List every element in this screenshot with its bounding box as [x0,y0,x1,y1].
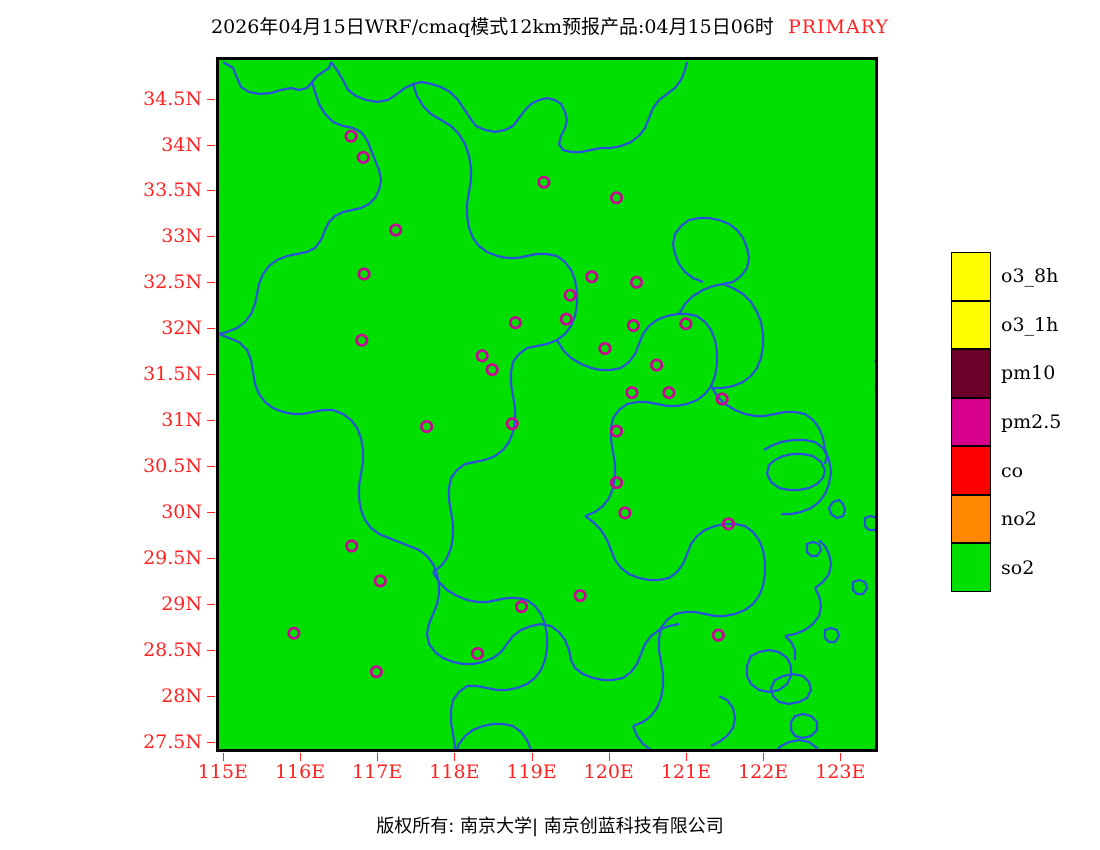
legend-item[interactable]: o3_8h [951,252,991,301]
boundary-line [219,334,679,680]
boundary-line [455,724,533,749]
y-axis-label: 29.5N [0,547,202,569]
y-axis-label: 29N [0,593,202,615]
station-marker[interactable] [611,426,621,436]
x-axis-label: 115E [198,761,248,783]
station-marker[interactable] [565,290,575,300]
y-axis-label: 28N [0,685,202,707]
station-marker[interactable] [346,131,356,141]
x-axis-tick [686,753,687,761]
x-axis-label: 121E [661,761,711,783]
station-marker[interactable] [620,508,630,518]
province-boundaries [219,62,875,749]
boundary-line [807,542,821,556]
y-axis-label: 30N [0,501,202,523]
station-marker[interactable] [510,318,520,328]
legend-item[interactable]: o3_1h [951,301,991,350]
station-marker[interactable] [713,630,723,640]
legend-color-swatch [951,543,991,592]
station-marker[interactable] [477,351,487,361]
boundary-line [781,450,831,514]
x-axis-tick [454,753,455,761]
page-title: 2026年04月15日WRF/cmaq模式12km预报产品:04月15日06时P… [0,12,1100,39]
y-axis-tick [207,328,215,329]
x-axis-tick [532,753,533,761]
x-axis-label: 117E [352,761,402,783]
y-axis-tick [207,466,215,467]
boundary-line [785,588,821,636]
y-axis-tick [207,604,215,605]
boundary-line [747,650,791,692]
boundary-line [829,500,845,518]
boundary-line [713,284,763,388]
map-canvas [219,60,875,749]
x-axis-label: 116E [275,761,325,783]
boundary-line [815,540,831,588]
boundary-line [219,82,381,334]
station-marker[interactable] [561,314,571,324]
legend-item[interactable]: co [951,446,991,495]
boundary-line [865,516,875,530]
station-marker[interactable] [391,225,401,235]
legend-color-swatch [951,398,991,447]
boundary-line [711,696,735,746]
legend-color-swatch [951,446,991,495]
x-axis-tick [840,753,841,761]
legend-item[interactable]: no2 [951,495,991,544]
legend-item[interactable]: so2 [951,543,991,592]
y-axis-tick [207,145,215,146]
y-axis-label: 34N [0,134,202,156]
x-axis-tick [223,753,224,761]
y-axis-tick [207,742,215,743]
x-axis-tick [377,753,378,761]
boundary-line [825,628,839,642]
y-axis-tick [207,190,215,191]
copyright-footer: 版权所有: 南京大学| 南京创蓝科技有限公司 [0,812,1100,838]
pollutant-legend: o3_8ho3_1hpm10pm2.5cono2so2 [951,252,991,592]
x-axis-label: 118E [429,761,479,783]
legend-item[interactable]: pm10 [951,349,991,398]
y-axis-tick [207,650,215,651]
x-axis-tick [609,753,610,761]
y-axis-label: 27.5N [0,731,202,753]
station-marker[interactable] [539,177,549,187]
title-main-text: 2026年04月15日WRF/cmaq模式12km预报产品:04月15日06时 [211,16,774,38]
station-marker[interactable] [664,387,674,397]
station-marker[interactable] [371,667,381,677]
boundary-line [673,218,749,314]
x-axis-label: 120E [584,761,634,783]
y-axis-tick [207,420,215,421]
station-marker[interactable] [631,277,641,287]
station-marker[interactable] [358,152,368,162]
boundary-line [331,62,687,152]
title-primary-badge: PRIMARY [788,16,889,38]
y-axis-label: 34.5N [0,88,202,110]
boundary-line [585,516,765,726]
x-axis-tick [763,753,764,761]
legend-item-label: no2 [1001,508,1037,530]
boundary-line [767,454,825,490]
x-axis-label: 122E [738,761,788,783]
station-marker[interactable] [627,387,637,397]
y-axis-label: 33.5N [0,179,202,201]
y-axis-tick [207,282,215,283]
station-marker[interactable] [611,193,621,203]
legend-color-swatch [951,349,991,398]
legend-item-label: pm10 [1001,362,1055,384]
boundary-line [853,580,867,594]
station-marker[interactable] [651,360,661,370]
y-axis-label: 33N [0,225,202,247]
y-axis-tick [207,512,215,513]
station-marker[interactable] [487,364,497,374]
x-axis-label: 123E [815,761,865,783]
legend-color-swatch [951,301,991,350]
station-marker[interactable] [357,335,367,345]
legend-item-label: co [1001,460,1023,482]
station-marker[interactable] [421,421,431,431]
legend-item-label: pm2.5 [1001,411,1061,433]
boundary-line [557,314,717,516]
station-marker[interactable] [289,628,299,638]
y-axis-tick [207,696,215,697]
legend-item-label: o3_1h [1001,314,1058,336]
y-axis-label: 32N [0,317,202,339]
x-axis-tick [300,753,301,761]
boundary-line [771,674,811,704]
y-axis-label: 28.5N [0,639,202,661]
station-marker[interactable] [628,320,638,330]
legend-item[interactable]: pm2.5 [951,398,991,447]
station-marker[interactable] [375,576,385,586]
y-axis-label: 32.5N [0,271,202,293]
legend-item-label: so2 [1001,557,1034,579]
boundary-line [633,726,661,749]
y-axis-tick [207,374,215,375]
station-marker[interactable] [347,541,357,551]
boundary-line [775,740,821,749]
y-axis-tick [207,236,215,237]
boundary-line [413,84,577,572]
station-marker[interactable] [681,319,691,329]
legend-color-swatch [951,495,991,544]
legend-color-swatch [951,252,991,301]
station-marker[interactable] [507,419,517,429]
station-marker[interactable] [575,590,585,600]
monitoring-stations [289,131,734,677]
y-axis-label: 31.5N [0,363,202,385]
y-axis-tick [207,558,215,559]
boundary-line [791,714,817,738]
legend-item-label: o3_8h [1001,265,1058,287]
map-plot-area[interactable] [216,57,878,752]
y-axis-label: 31N [0,409,202,431]
y-axis-tick [207,99,215,100]
station-marker[interactable] [359,269,369,279]
station-marker[interactable] [600,343,610,353]
y-axis-label: 30.5N [0,455,202,477]
station-marker[interactable] [472,648,482,658]
x-axis-label: 119E [506,761,556,783]
station-marker[interactable] [587,272,597,282]
station-marker[interactable] [516,601,526,611]
